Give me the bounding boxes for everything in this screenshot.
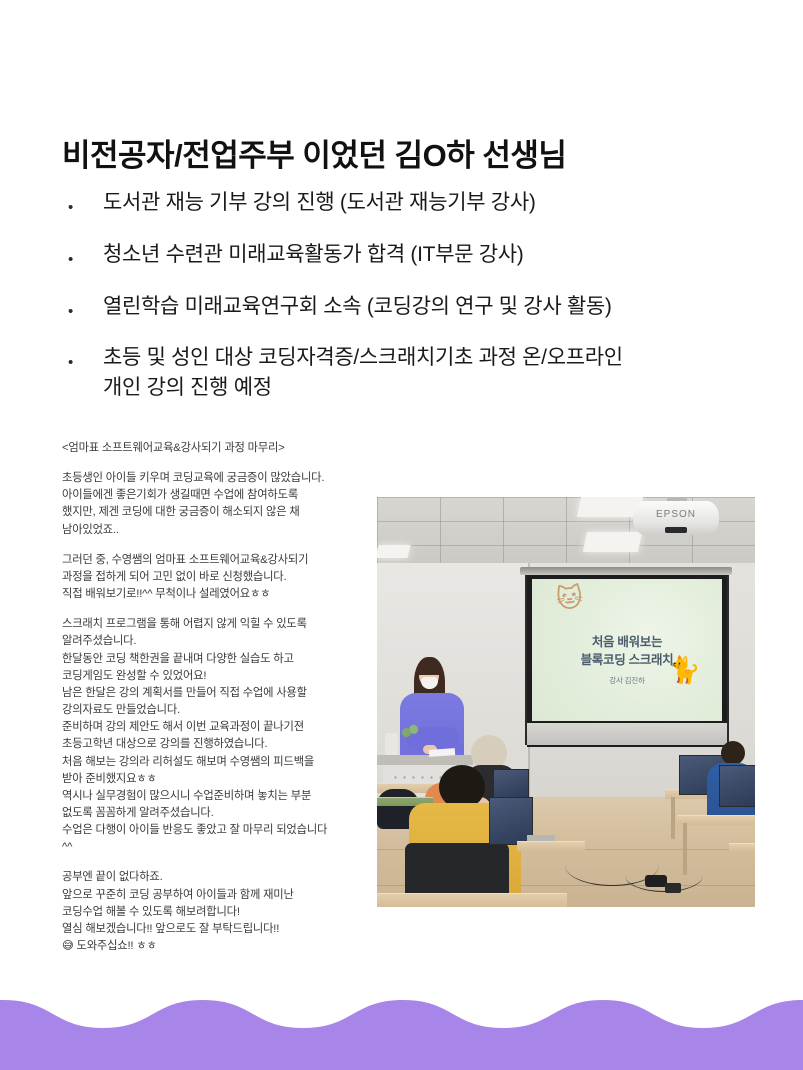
bullet-marker-icon	[68, 252, 76, 267]
power-strip	[645, 875, 667, 887]
slide-title-line2: 블록코딩 스크래치	[581, 653, 674, 667]
bullet-marker-icon	[68, 304, 76, 319]
bullet-marker-icon	[68, 200, 76, 215]
power-adapter	[665, 883, 681, 893]
list-item-label: 도서관 재능 기부 강의 진행 (도서관 재능기부 강사)	[103, 188, 536, 218]
testimonial-paragraph: 공부엔 끝이 없다하죠.앞으로 꾸준히 코딩 공부하여 아이들과 함께 재미난코…	[62, 869, 378, 955]
testimonial-paragraph: 그러던 중, 수영쌤의 엄마표 소프트웨어교육&강사되기과정을 접하게 되어 고…	[62, 552, 378, 603]
ceiling-light	[377, 545, 411, 558]
list-item: 도서관 재능 기부 강의 진행 (도서관 재능기부 강사)	[62, 188, 762, 218]
laptop-base	[527, 835, 555, 841]
list-item: 청소년 수련관 미래교육활동가 합격 (IT부문 강사)	[62, 240, 762, 270]
scratch-cat-icon: 🐱	[555, 584, 585, 613]
list-item-label: 열린학습 미래교육연구회 소속 (코딩강의 연구 및 강사 활동)	[103, 292, 612, 322]
testimonial-paragraph: 스크래치 프로그램을 통해 어렵지 않게 익힐 수 있도록알려주셨습니다.한달동…	[62, 616, 378, 856]
scallop-edge-icon	[0, 998, 803, 1028]
laptop-screen	[493, 769, 529, 799]
projection-screen-bottom	[527, 723, 727, 745]
bullet-marker-icon	[68, 355, 76, 370]
plant	[401, 723, 419, 739]
classroom-photo: EPSON 🐱 🐈 처음 배워보는 블록코딩 스크래치 강사 김진하	[377, 497, 755, 907]
page-title: 비전공자/전업주부 이었던 김O하 선생님	[62, 130, 566, 175]
list-item: 초등 및 성인 대상 코딩자격증/스크래치기초 과정 온/오프라인 개인 강의 …	[62, 343, 762, 403]
podium-top	[377, 755, 473, 765]
footer-decoration	[0, 998, 803, 1070]
credentials-list: 도서관 재능 기부 강의 진행 (도서관 재능기부 강사) 청소년 수련관 미래…	[62, 188, 762, 425]
list-item-label-line2: 개인 강의 진행 예정	[103, 373, 623, 403]
poster-page: 비전공자/전업주부 이었던 김O하 선생님 도서관 재능 기부 강의 진행 (도…	[0, 0, 803, 1070]
testimonial-text: <엄마표 소프트웨어교육&강사되기 과정 마무리> 초등생인 아이들 키우며 코…	[62, 440, 378, 955]
ceiling-light	[583, 532, 642, 552]
projection-screen-housing	[520, 567, 732, 575]
projector-brand-label: EPSON	[633, 509, 719, 520]
testimonial-paragraph: 초등생인 아이들 키우며 코딩교육에 궁금증이 많았습니다.아이들에겐 좋은기회…	[62, 470, 378, 539]
desk-leg	[671, 797, 675, 839]
desk	[517, 841, 585, 851]
slide-presenter-credit: 강사 김진하	[532, 675, 722, 686]
list-item-label: 초등 및 성인 대상 코딩자격증/스크래치기초 과정 온/오프라인 개인 강의 …	[103, 343, 623, 403]
desk	[377, 893, 567, 907]
testimonial-heading: <엄마표 소프트웨어교육&강사되기 과정 마무리>	[62, 440, 378, 457]
list-item-label-line1: 초등 및 성인 대상 코딩자격증/스크래치기초 과정 온/오프라인	[103, 346, 623, 369]
desk	[677, 815, 755, 825]
projected-slide: 🐱 🐈 처음 배워보는 블록코딩 스크래치 강사 김진하	[532, 579, 722, 721]
desk	[729, 843, 755, 852]
projector-lens	[665, 527, 687, 533]
slide-title: 처음 배워보는 블록코딩 스크래치	[532, 633, 722, 669]
list-item: 열린학습 미래교육연구회 소속 (코딩강의 연구 및 강사 활동)	[62, 292, 762, 322]
list-item-label: 청소년 수련관 미래교육활동가 합격 (IT부문 강사)	[103, 240, 524, 270]
student-head	[721, 741, 745, 765]
presenter-hair-front	[418, 660, 440, 675]
laptop-screen	[719, 765, 755, 807]
slide-title-line1: 처음 배워보는	[592, 635, 662, 649]
